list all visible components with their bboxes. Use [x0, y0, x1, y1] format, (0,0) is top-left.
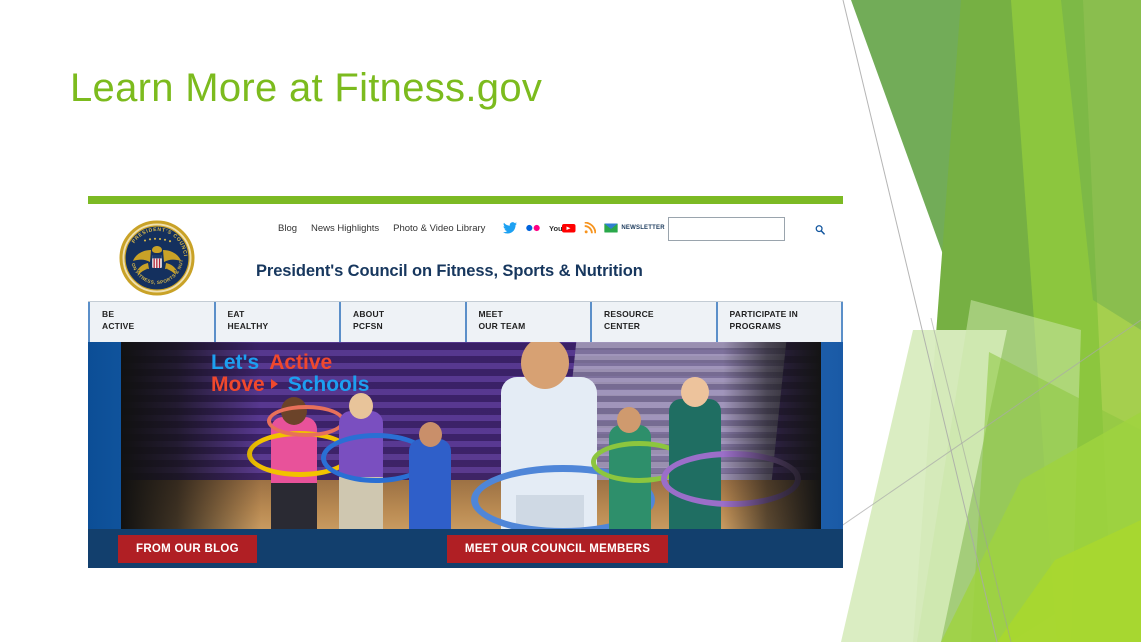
utility-link-blog[interactable]: Blog [278, 223, 297, 234]
play-triangle-icon [271, 379, 278, 389]
hero-banner[interactable]: Let's Active Move Schools [88, 342, 843, 529]
nav-label-line2: HEALTHY [228, 321, 340, 333]
nav-label-line2: PROGRAMS [730, 321, 842, 333]
hero-photo: Let's Active Move Schools [121, 342, 821, 529]
nav-item-resource-center[interactable]: RESOURCE CENTER [592, 302, 718, 342]
site-search[interactable] [668, 217, 785, 241]
svg-text:You: You [549, 224, 563, 233]
from-our-blog-button[interactable]: FROM OUR BLOG [118, 535, 257, 563]
flickr-icon[interactable] [525, 223, 541, 233]
meet-our-council-members-button[interactable]: MEET OUR COUNCIL MEMBERS [447, 535, 668, 563]
twitter-icon[interactable] [503, 222, 517, 234]
website-screenshot: PRESIDENT'S COUNCIL ON FITNESS, SPORTS &… [88, 196, 843, 568]
hero-word-lets: Let's [211, 352, 259, 374]
nav-label-line1: ABOUT [353, 309, 384, 319]
nav-label-line1: RESOURCE [604, 309, 654, 319]
nav-label-line2: OUR TEAM [479, 321, 591, 333]
decorative-facet-graphic [821, 0, 1141, 642]
rss-icon[interactable] [584, 222, 596, 234]
search-icon [815, 223, 825, 236]
hero-word-move: Move [211, 374, 265, 396]
nav-label-line2: PCFSN [353, 321, 465, 333]
hero-word-active: Active [269, 352, 332, 374]
organization-title: President's Council on Fitness, Sports &… [256, 262, 643, 281]
site-footer: FROM OUR BLOG MEET OUR COUNCIL MEMBERS [88, 529, 843, 568]
site-top-accent-bar [88, 196, 843, 204]
site-header: PRESIDENT'S COUNCIL ON FITNESS, SPORTS &… [88, 204, 843, 301]
utility-link-photo-video-library[interactable]: Photo & Video Library [393, 223, 485, 234]
slide-canvas: Learn More at Fitness.gov PRESIDENT'S CO… [0, 0, 1141, 642]
search-button[interactable] [809, 219, 831, 239]
newsletter-icon [604, 223, 618, 233]
nav-item-participate-in-programs[interactable]: PARTICIPATE IN PROGRAMS [718, 302, 844, 342]
newsletter-label: NEWSLETTER [621, 225, 664, 231]
site-main-nav: BE ACTIVE EAT HEALTHY ABOUT PCFSN MEET O… [88, 301, 843, 342]
nav-label-line1: BE [102, 309, 114, 319]
nav-label-line2: CENTER [604, 321, 716, 333]
nav-item-be-active[interactable]: BE ACTIVE [88, 302, 216, 342]
hero-word-schools: Schools [288, 374, 370, 396]
nav-item-about-pcfsn[interactable]: ABOUT PCFSN [341, 302, 467, 342]
nav-label-line1: PARTICIPATE IN [730, 309, 798, 319]
utility-nav: Blog News Highlights Photo & Video Libra… [278, 222, 665, 234]
youtube-icon[interactable]: You [549, 222, 576, 234]
newsletter-link[interactable]: NEWSLETTER [604, 223, 664, 233]
hero-headline: Let's Active Move Schools [211, 352, 369, 396]
nav-label-line2: ACTIVE [102, 321, 214, 333]
nav-label-line1: MEET [479, 309, 503, 319]
page-title: Learn More at Fitness.gov [70, 62, 542, 114]
pcfsn-seal-icon: PRESIDENT'S COUNCIL ON FITNESS, SPORTS &… [118, 219, 196, 297]
nav-item-eat-healthy[interactable]: EAT HEALTHY [216, 302, 342, 342]
nav-item-meet-our-team[interactable]: MEET OUR TEAM [467, 302, 593, 342]
search-input[interactable] [673, 219, 809, 239]
nav-label-line1: EAT [228, 309, 245, 319]
utility-link-news-highlights[interactable]: News Highlights [311, 223, 379, 234]
